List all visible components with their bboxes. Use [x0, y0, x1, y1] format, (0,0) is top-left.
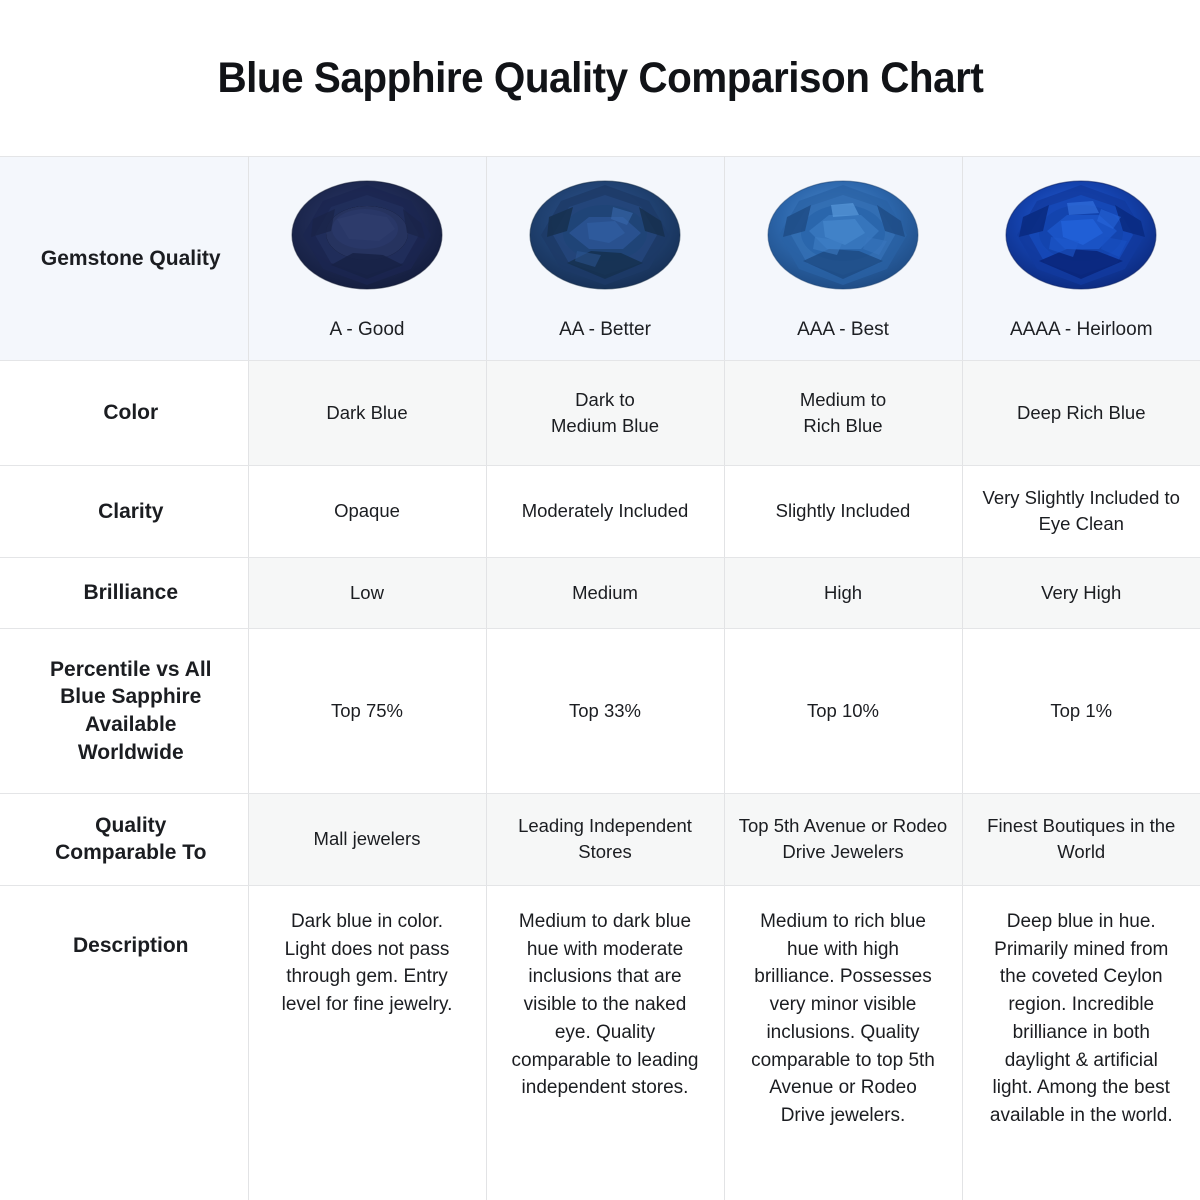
comparable-value-aaaa: Finest Boutiques in the World: [962, 793, 1200, 885]
description-value-aaaa: Deep blue in hue. Primarily mined from t…: [962, 885, 1200, 1200]
clarity-value-aaaa: Very Slightly Included to Eye Clean: [962, 465, 1200, 557]
color-value-a: Dark Blue: [248, 360, 486, 465]
row-label-description: Description: [0, 885, 248, 1200]
percentile-value-aaaa: Top 1%: [962, 628, 1200, 793]
sapphire-oval-aaaa-icon: [973, 179, 1191, 291]
clarity-value-aaa: Slightly Included: [724, 465, 962, 557]
clarity-value-a: Opaque: [248, 465, 486, 557]
color-value-aaaa: Deep Rich Blue: [962, 360, 1200, 465]
comparison-chart-page: Blue Sapphire Quality Comparison Chart G…: [0, 0, 1200, 1200]
sapphire-oval-aa-svg: [529, 179, 681, 291]
description-value-aa: Medium to dark blue hue with moderate in…: [486, 885, 724, 1200]
percentile-value-a: Top 75%: [248, 628, 486, 793]
row-label-gemstone-quality: Gemstone Quality: [0, 157, 248, 361]
table-row-color: Color Dark Blue Dark to Medium Blue Medi…: [0, 360, 1200, 465]
color-value-aaa: Medium to Rich Blue: [724, 360, 962, 465]
brilliance-value-aa: Medium: [486, 557, 724, 628]
gemstone-cell-aaa: AAA - Best: [724, 157, 962, 361]
row-label-brilliance: Brilliance: [0, 557, 248, 628]
gemstone-cell-a: A - Good: [248, 157, 486, 361]
brilliance-value-aaa: High: [724, 557, 962, 628]
gemstone-cell-aa: AA - Better: [486, 157, 724, 361]
comparable-value-aaa: Top 5th Avenue or Rodeo Drive Jewelers: [724, 793, 962, 885]
sapphire-oval-aa-icon: [497, 179, 714, 291]
sapphire-oval-a-svg: [291, 179, 443, 291]
comparable-value-aa: Leading Independent Stores: [486, 793, 724, 885]
table-row-clarity: Clarity Opaque Moderately Included Sligh…: [0, 465, 1200, 557]
table-row-percentile: Percentile vs All Blue Sapphire Availabl…: [0, 628, 1200, 793]
column-caption-aaa: AAA - Best: [735, 317, 952, 344]
table-row-brilliance: Brilliance Low Medium High Very High: [0, 557, 1200, 628]
description-value-a: Dark blue in color. Light does not pass …: [248, 885, 486, 1200]
clarity-value-aa: Moderately Included: [486, 465, 724, 557]
sapphire-oval-aaa-icon: [735, 179, 952, 291]
page-title-container: Blue Sapphire Quality Comparison Chart: [0, 0, 1200, 156]
page-title: Blue Sapphire Quality Comparison Chart: [217, 54, 983, 103]
row-label-quality-comparable: Quality Comparable To: [0, 793, 248, 885]
percentile-value-aaa: Top 10%: [724, 628, 962, 793]
color-value-aa: Dark to Medium Blue: [486, 360, 724, 465]
quality-comparison-table: Gemstone Quality: [0, 156, 1200, 1200]
gemstone-cell-aaaa: AAAA - Heirloom: [962, 157, 1200, 361]
brilliance-value-a: Low: [248, 557, 486, 628]
column-caption-aaaa: AAAA - Heirloom: [973, 317, 1191, 344]
table-row-gemstone-quality: Gemstone Quality: [0, 157, 1200, 361]
percentile-value-aa: Top 33%: [486, 628, 724, 793]
row-label-clarity: Clarity: [0, 465, 248, 557]
table-row-quality-comparable: Quality Comparable To Mall jewelers Lead…: [0, 793, 1200, 885]
sapphire-oval-a-icon: [259, 179, 476, 291]
description-value-aaa: Medium to rich blue hue with high brilli…: [724, 885, 962, 1200]
sapphire-oval-aaaa-svg: [1005, 179, 1157, 291]
row-label-percentile: Percentile vs All Blue Sapphire Availabl…: [0, 628, 248, 793]
sapphire-oval-aaa-svg: [767, 179, 919, 291]
column-caption-a: A - Good: [259, 317, 476, 344]
column-caption-aa: AA - Better: [497, 317, 714, 344]
row-label-color: Color: [0, 360, 248, 465]
comparable-value-a: Mall jewelers: [248, 793, 486, 885]
table-row-description: Description Dark blue in color. Light do…: [0, 885, 1200, 1200]
brilliance-value-aaaa: Very High: [962, 557, 1200, 628]
